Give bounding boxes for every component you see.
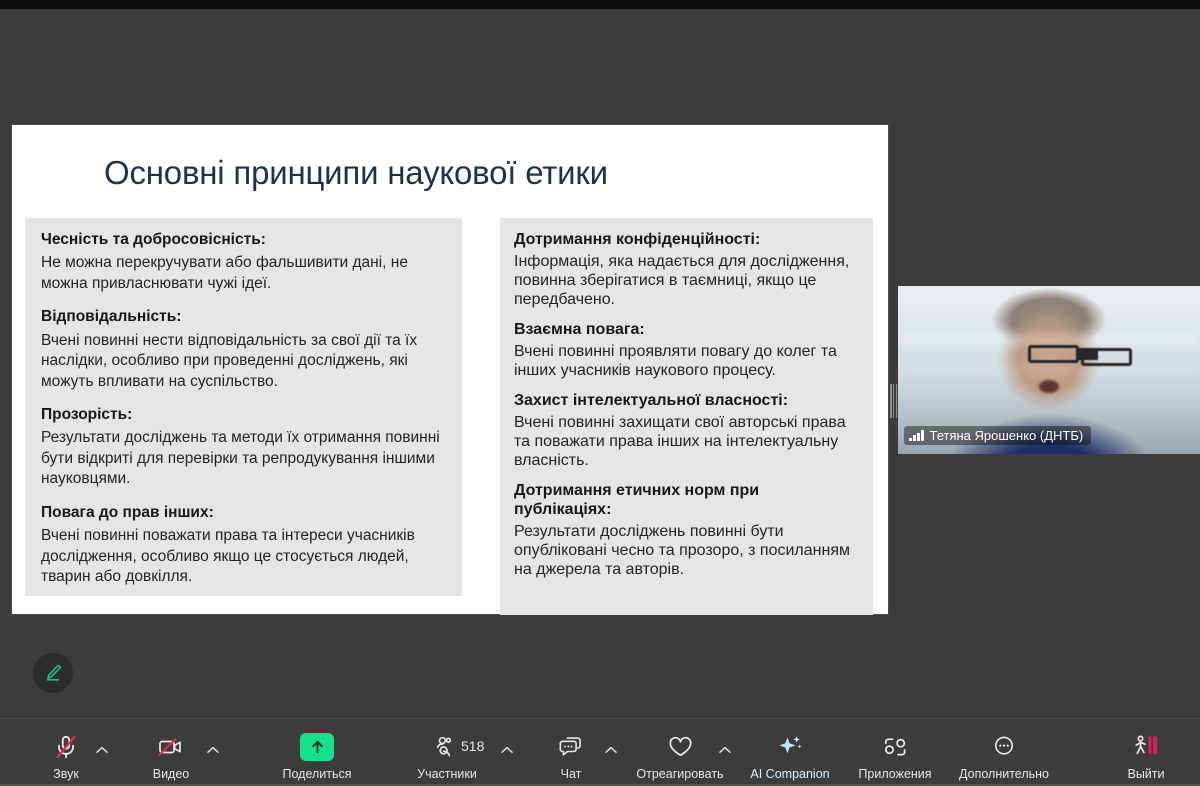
chat-bubble-icon — [558, 732, 584, 762]
audio-label: Звук — [53, 768, 79, 781]
ellipsis-circle-icon — [991, 732, 1017, 762]
apps-icon — [882, 732, 909, 762]
principle-heading: Дотримання конфіденційності: — [514, 230, 859, 249]
principle-body: Результати досліджень повинні бути опубл… — [514, 523, 859, 580]
share-label: Поделиться — [282, 768, 351, 781]
participant-name: Тетяна Ярошенко (ДНТБ) — [930, 429, 1084, 442]
video-button[interactable]: Видео — [143, 732, 199, 781]
audio-button[interactable]: Звук — [40, 732, 92, 781]
principle-heading: Дотримання етичних норм при публікаціях: — [514, 481, 859, 519]
annotate-button[interactable] — [33, 653, 73, 693]
video-panel-drag-handle[interactable] — [890, 384, 897, 418]
leave-label: Выйти — [1127, 768, 1164, 781]
principle-heading: Повага до прав інших: — [41, 503, 446, 522]
principle-body: Результати досліджень та методи їх отрим… — [41, 428, 446, 489]
apps-label: Приложения — [858, 768, 931, 781]
ai-companion-button[interactable]: AI Companion — [740, 732, 840, 781]
principle-heading: Відповідальність: — [41, 307, 446, 326]
video-label: Видео — [153, 768, 190, 781]
principle-heading: Прозорість: — [41, 405, 446, 424]
ai-companion-label: AI Companion — [750, 768, 829, 781]
more-button[interactable]: Дополнительно — [950, 732, 1058, 781]
slide-right-column: Дотримання конфіденційності: Інформація,… — [500, 218, 873, 615]
principle-heading: Чесність та добросовісність: — [41, 230, 446, 249]
chat-options-chevron[interactable] — [604, 743, 618, 757]
principle-block: Взаємна повага: Вчені повинні проявляти … — [514, 320, 859, 381]
sparkle-icon — [776, 732, 804, 762]
chat-button[interactable]: Чат — [548, 732, 594, 781]
camera-muted-icon — [157, 732, 185, 762]
slide-left-column: Чесність та добросовісність: Не можна пе… — [25, 218, 462, 596]
principle-block: Прозорість: Результати досліджень та мет… — [41, 405, 446, 490]
more-label: Дополнительно — [959, 768, 1049, 781]
pencil-icon — [43, 663, 63, 683]
principle-block: Дотримання етичних норм при публікаціях:… — [514, 481, 859, 580]
reactions-label: Отреагировать — [636, 768, 723, 781]
principle-body: Не можна перекручувати або фальшивити да… — [41, 253, 446, 294]
principle-heading: Взаємна повага: — [514, 320, 859, 339]
slide-title: Основні принципи наукової етики — [104, 154, 608, 192]
shared-screen-slide[interactable]: Основні принципи наукової етики Чесність… — [12, 125, 888, 614]
chat-label: Чат — [561, 768, 582, 781]
principle-block: Чесність та добросовісність: Не можна пе… — [41, 230, 446, 294]
principle-block: Захист інтелектуальної власності: Вчені … — [514, 391, 859, 471]
share-screen-chip — [300, 732, 334, 762]
zoom-meeting-window: Основні принципи наукової етики Чесність… — [0, 0, 1200, 786]
principle-body: Вчені повинні проявляти повагу до колег … — [514, 343, 859, 381]
principle-block: Відповідальність: Вчені повинні нести ві… — [41, 307, 446, 392]
signal-bars-icon — [909, 430, 924, 441]
principle-body: Вчені повинні захищати свої авторські пр… — [514, 414, 859, 471]
principle-block: Дотримання конфіденційності: Інформація,… — [514, 230, 859, 310]
share-screen-button[interactable]: Поделиться — [272, 732, 362, 781]
participants-options-chevron[interactable] — [500, 743, 514, 757]
audio-options-chevron[interactable] — [95, 743, 109, 757]
participants-label: Участники — [417, 768, 477, 781]
participant-name-badge: Тетяна Ярошенко (ДНТБ) — [904, 426, 1091, 445]
principle-body: Вчені повинні нести відповідальність за … — [41, 331, 446, 392]
microphone-muted-icon — [53, 732, 79, 762]
principle-body: Вчені повинні поважати права та інтереси… — [41, 526, 446, 587]
meeting-toolbar: Звук Видео — [0, 718, 1200, 786]
share-screen-up-arrow-icon — [300, 733, 334, 761]
video-options-chevron[interactable] — [206, 743, 220, 757]
principle-block: Повага до прав інших: Вчені повинні пова… — [41, 503, 446, 588]
reactions-options-chevron[interactable] — [718, 743, 732, 757]
leave-meeting-button[interactable]: Выйти — [1118, 732, 1174, 781]
leave-meeting-icon — [1131, 732, 1161, 762]
participants-count: 518 — [461, 739, 484, 753]
apps-button[interactable]: Приложения — [848, 732, 942, 781]
principle-heading: Захист інтелектуальної власності: — [514, 391, 859, 410]
heart-icon — [667, 732, 694, 762]
participants-icon — [433, 732, 461, 762]
window-title-bar — [0, 0, 1200, 9]
principle-body: Інформація, яка надається для дослідженн… — [514, 253, 859, 310]
speaker-video-thumbnail[interactable]: Тетяна Ярошенко (ДНТБ) — [898, 286, 1200, 454]
